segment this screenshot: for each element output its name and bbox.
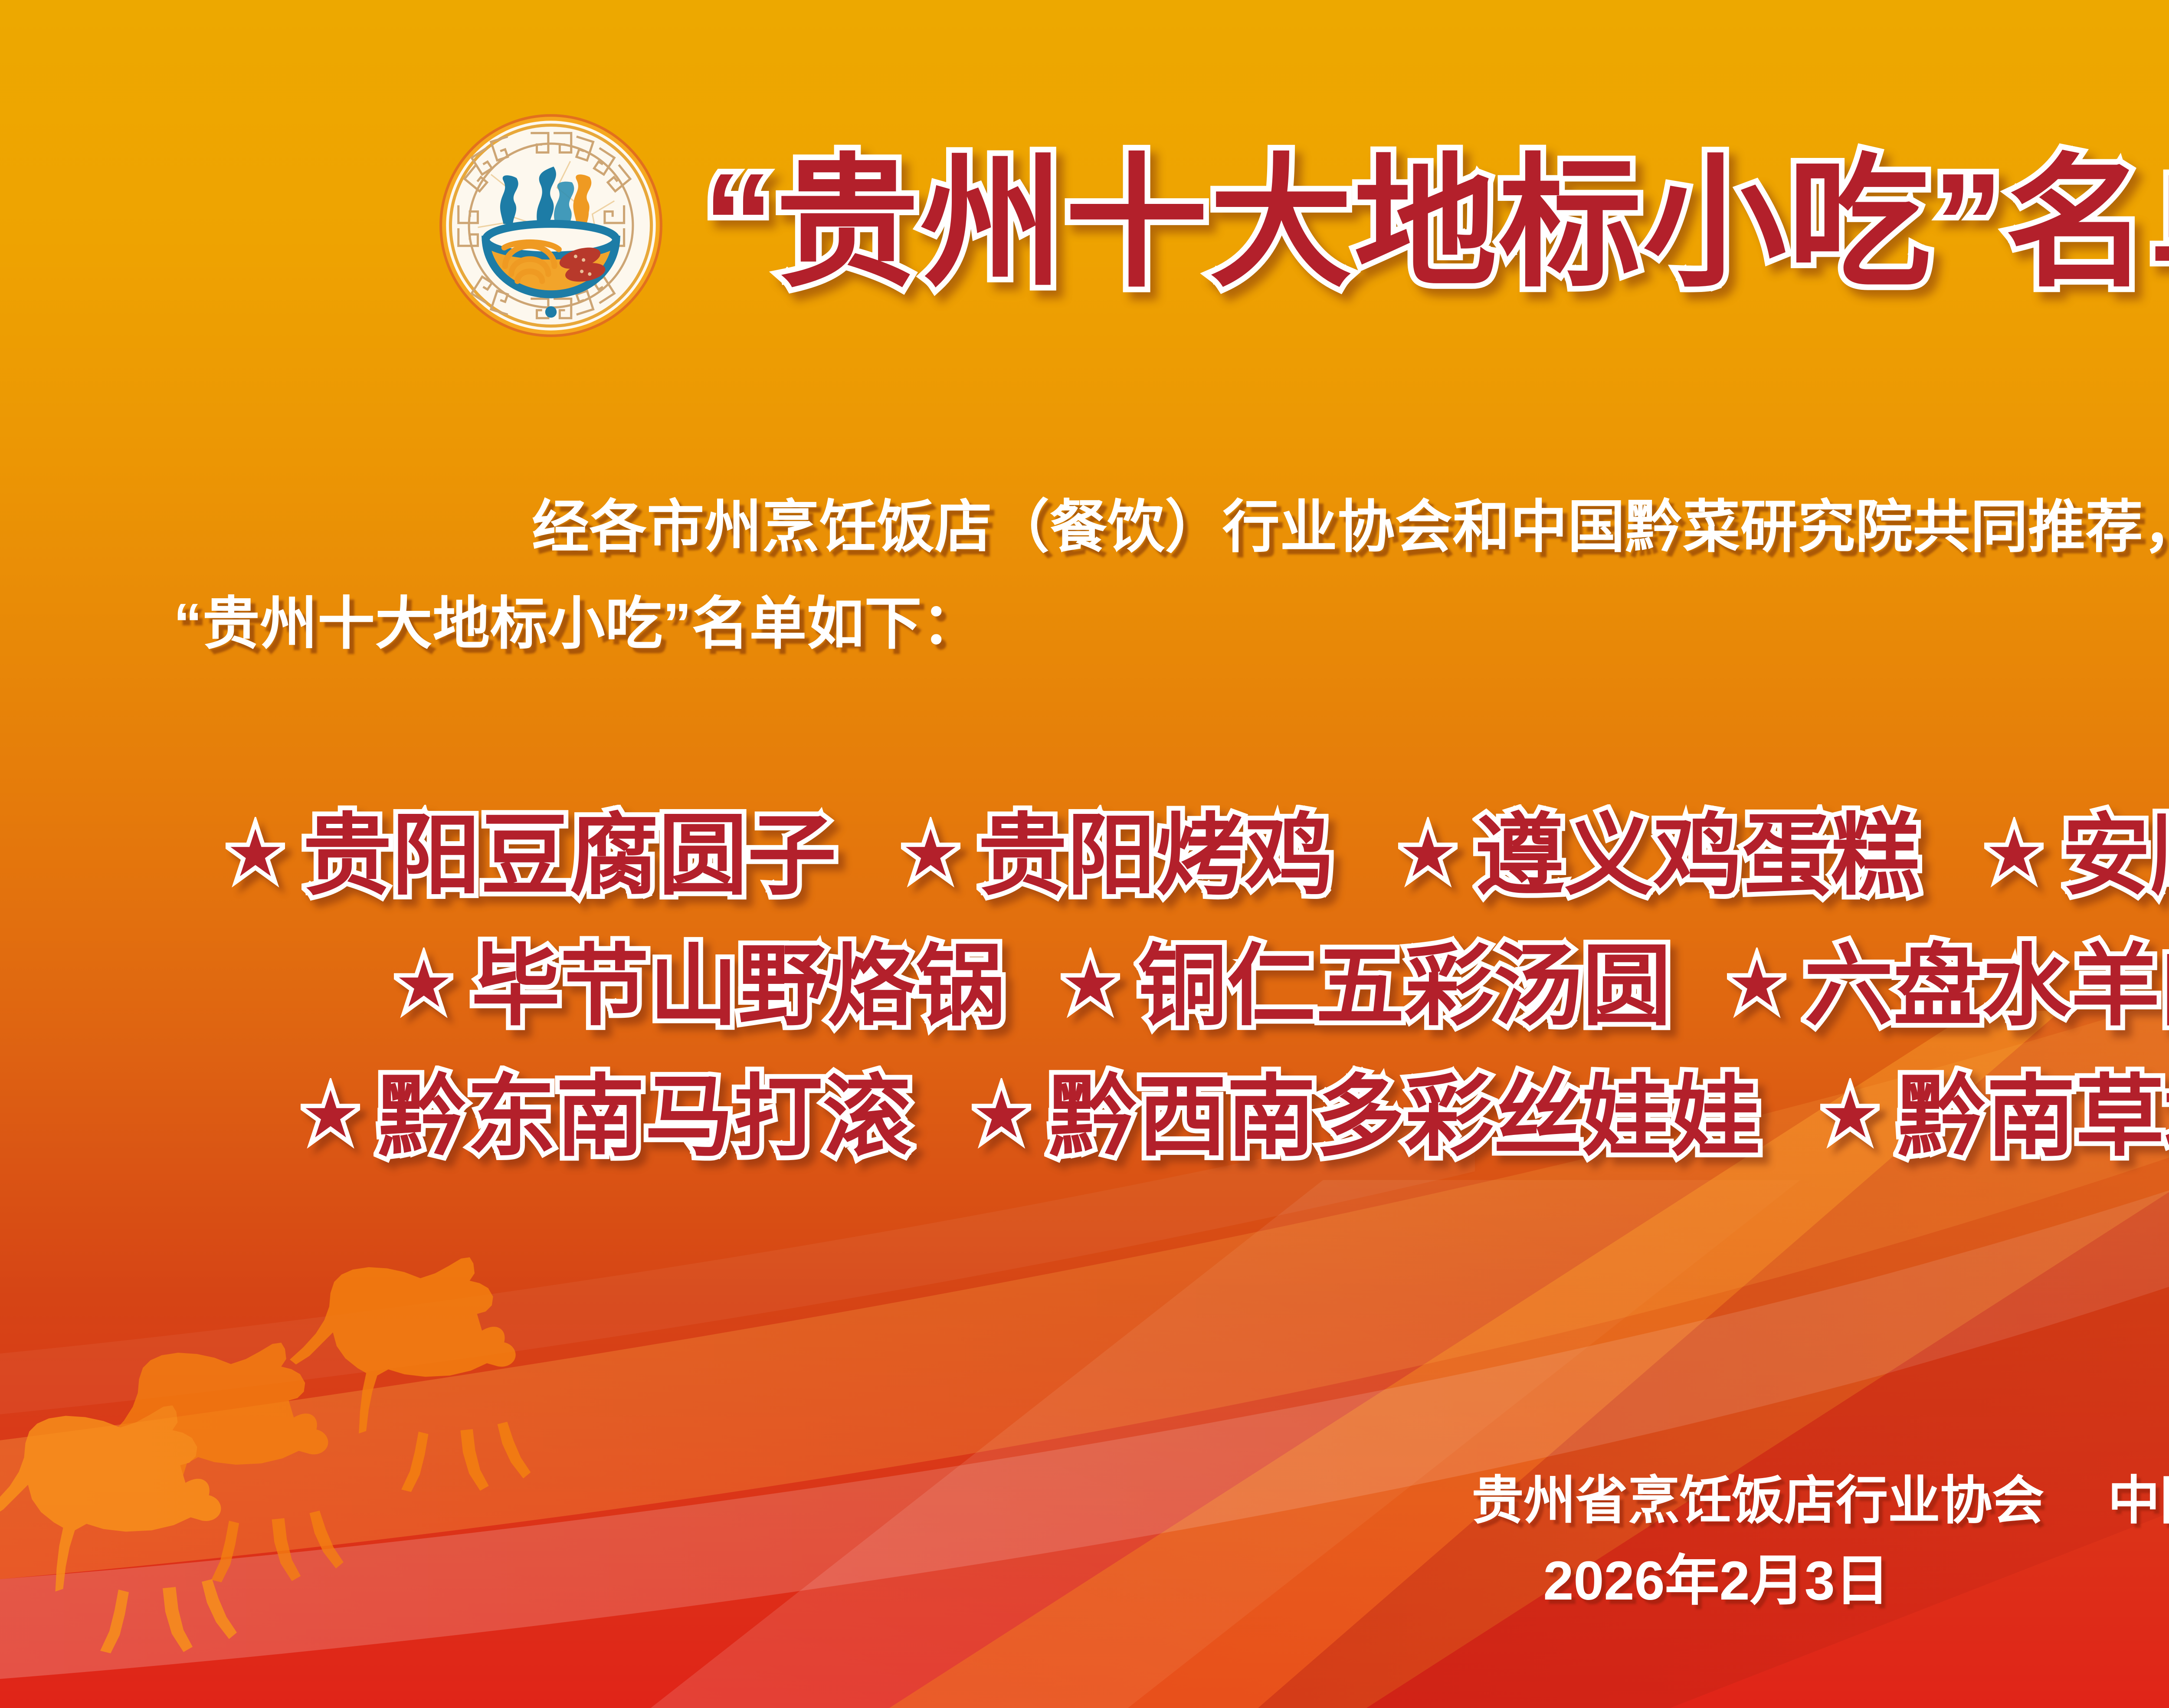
intro-line-2: “贵州十大地标小吃”名单如下： xyxy=(130,580,2169,668)
star-icon: ★ xyxy=(1061,951,1119,1016)
list-item[interactable]: ★ 黔西南多彩丝娃娃 xyxy=(972,1072,1760,1161)
intro-paragraph: 经各市州烹饪饭店（餐饮）行业协会和中国黔菜研究院共同推荐， “贵州十大地标小吃”… xyxy=(130,484,2169,667)
list-item-label: 黔西南多彩丝娃娃 xyxy=(1049,1072,1760,1161)
list-item[interactable]: ★ 黔东南马打滚 xyxy=(301,1072,911,1161)
list-item-label: 黔南草塘蒸笼 xyxy=(1897,1072,2169,1161)
organization-2: 中国黔菜研究院 xyxy=(2108,1472,2169,1530)
star-icon: ★ xyxy=(395,951,453,1016)
list-item-label: 安顺破酥包 xyxy=(2061,811,2169,900)
star-icon: ★ xyxy=(972,1082,1030,1147)
poster-header: “贵州十大地标小吃”名单 xyxy=(0,108,2169,338)
poster-canvas: “贵州十大地标小吃”名单 经各市州烹饪饭店（餐饮）行业协会和中国黔菜研究院共同推… xyxy=(0,0,2169,1708)
list-item-label: 铜仁五彩汤圆 xyxy=(1138,942,1671,1031)
snack-list-row: ★ 毕节山野烙锅 ★ 铜仁五彩汤圆 ★ 六盘水羊肉粉 xyxy=(0,942,2169,1031)
list-item-label: 六盘水羊肉粉 xyxy=(1804,942,2169,1031)
star-icon: ★ xyxy=(1985,821,2043,886)
list-item[interactable]: ★ 遵义鸡蛋糕 xyxy=(1399,811,1920,900)
page-title: “贵州十大地标小吃”名单 xyxy=(703,152,2169,295)
publish-date: 2026年2月3日 xyxy=(1471,1554,2169,1608)
list-item[interactable]: ★ 黔南草塘蒸笼 xyxy=(1821,1072,2169,1161)
list-item-label: 贵阳烤鸡 xyxy=(978,811,1334,900)
list-item[interactable]: ★ 贵阳豆腐圆子 xyxy=(226,811,836,900)
organization-1: 贵州省烹饪饭店行业协会 xyxy=(1471,1472,2044,1530)
intro-line-1: 经各市州烹饪饭店（餐饮）行业协会和中国黔菜研究院共同推荐， xyxy=(130,484,2169,571)
snack-list: ★ 贵阳豆腐圆子 ★ 贵阳烤鸡 ★ 遵义鸡蛋糕 ★ 安顺破酥包 ★ 毕节山野烙锅 xyxy=(0,811,2169,1203)
list-item[interactable]: ★ 毕节山野烙锅 xyxy=(395,942,1005,1031)
list-item-label: 贵阳豆腐圆子 xyxy=(303,811,836,900)
star-icon: ★ xyxy=(1399,821,1457,886)
star-icon: ★ xyxy=(1821,1082,1879,1147)
poster-footer: 贵州省烹饪饭店行业协会 中国黔菜研究院 2026年2月3日 xyxy=(1471,1475,2169,1608)
list-item[interactable]: ★ 六盘水羊肉粉 xyxy=(1728,942,2169,1031)
list-item-label: 遵义鸡蛋糕 xyxy=(1475,811,1920,900)
star-icon: ★ xyxy=(226,821,285,886)
list-item[interactable]: ★ 安顺破酥包 xyxy=(1985,811,2169,900)
list-item[interactable]: ★ 贵阳烤鸡 xyxy=(901,811,1334,900)
snack-list-row: ★ 黔东南马打滚 ★ 黔西南多彩丝娃娃 ★ 黔南草塘蒸笼 xyxy=(0,1072,2169,1161)
snack-list-row: ★ 贵阳豆腐圆子 ★ 贵阳烤鸡 ★ 遵义鸡蛋糕 ★ 安顺破酥包 xyxy=(0,811,2169,900)
star-icon: ★ xyxy=(1728,951,1786,1016)
noodle-bowl-emblem-icon xyxy=(438,113,664,338)
star-icon: ★ xyxy=(301,1082,360,1147)
star-icon: ★ xyxy=(901,821,960,886)
list-item-label: 黔东南马打滚 xyxy=(378,1072,911,1161)
list-item[interactable]: ★ 铜仁五彩汤圆 xyxy=(1061,942,1671,1031)
list-item-label: 毕节山野烙锅 xyxy=(471,942,1005,1031)
issuing-organizations: 贵州省烹饪饭店行业协会 中国黔菜研究院 xyxy=(1471,1475,2169,1527)
